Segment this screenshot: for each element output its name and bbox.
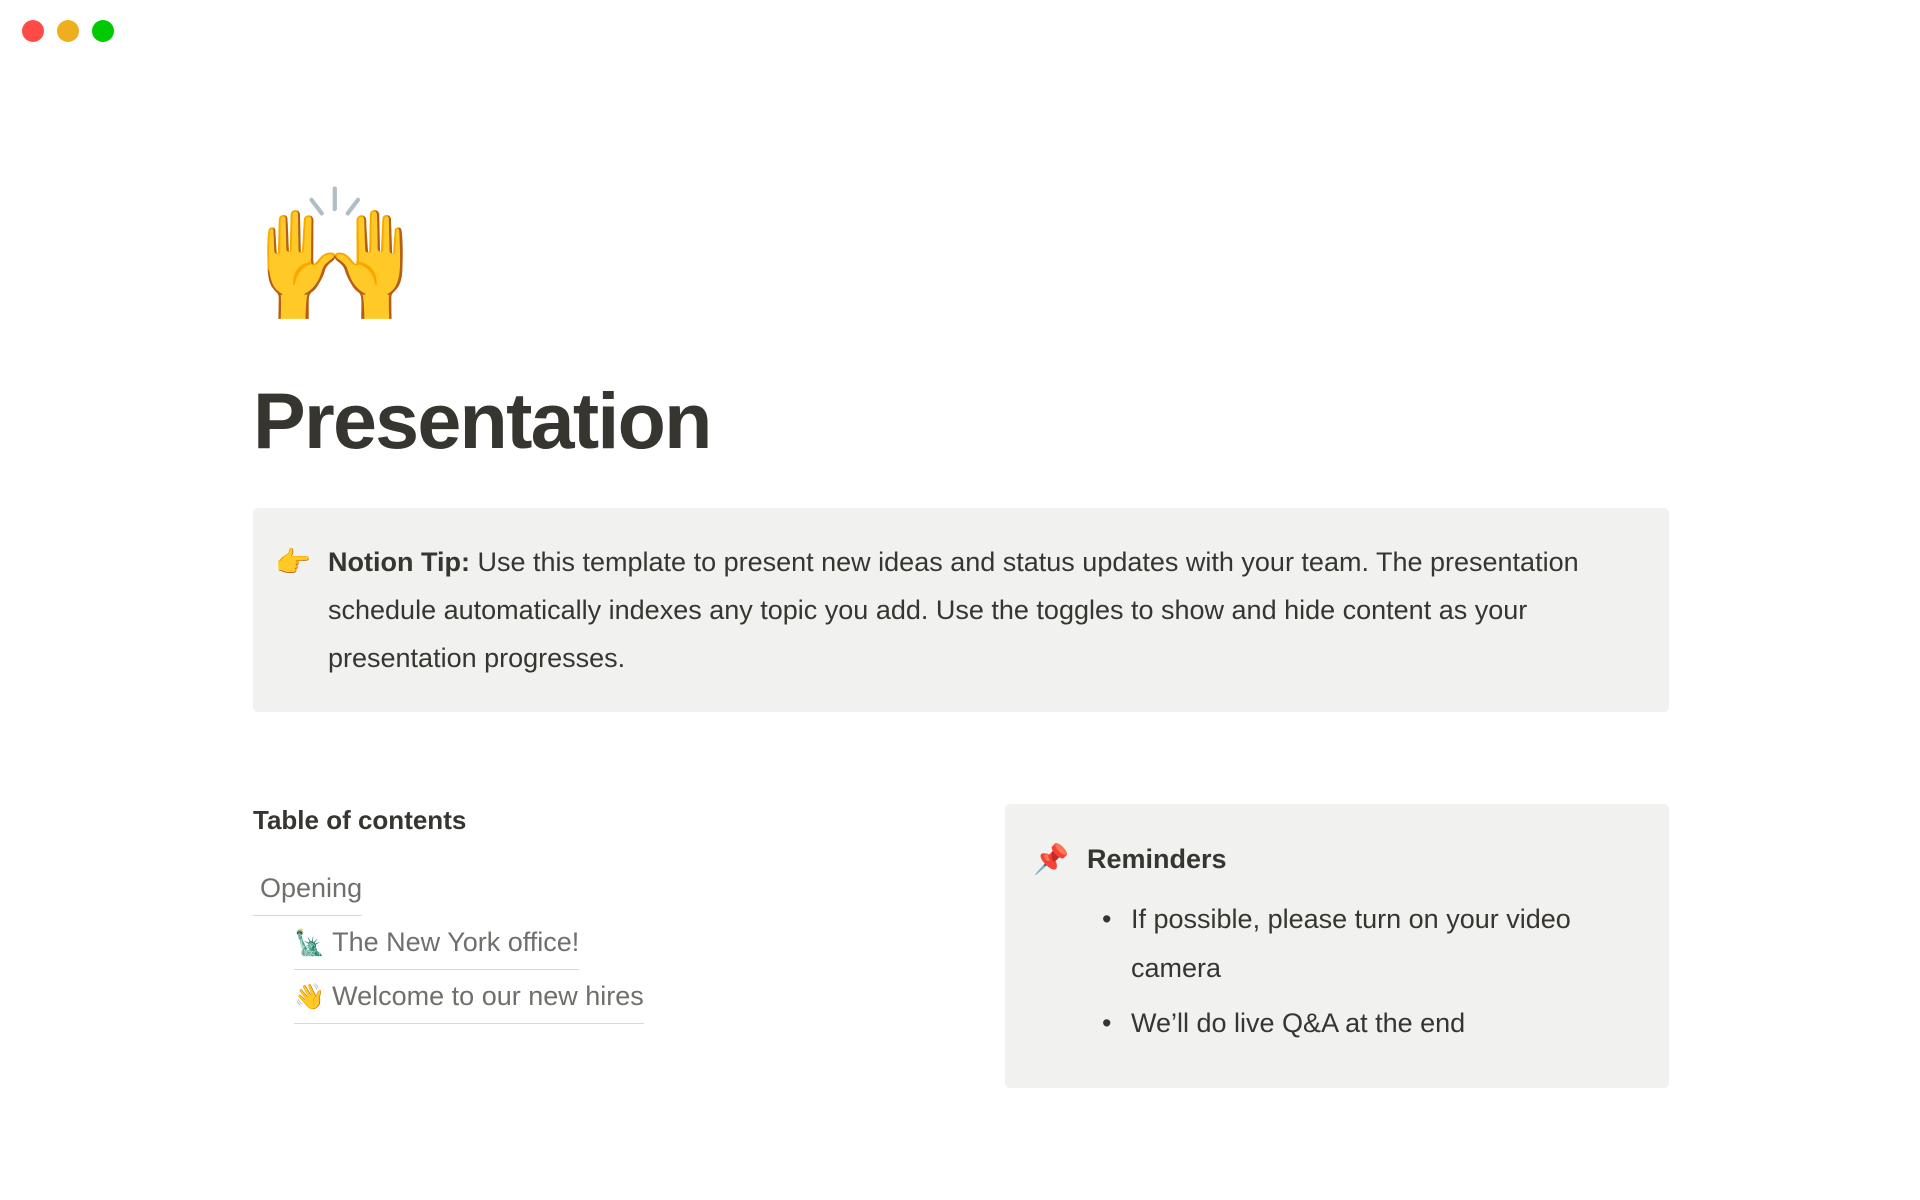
toc-item-label: The New York office!	[332, 927, 579, 957]
toc-link-opening[interactable]: Opening	[253, 862, 362, 916]
document-page: 🙌 Presentation 👉 Notion Tip: Use this te…	[0, 62, 1920, 1200]
notion-tip-body: Use this template to present new ideas a…	[328, 547, 1579, 673]
notion-tip-label: Notion Tip:	[328, 547, 470, 577]
list-item: 🗽The New York office!	[294, 916, 965, 970]
reminders-list: •If possible, please turn on your video …	[1087, 895, 1639, 1048]
minimize-window-button[interactable]	[57, 20, 79, 42]
raising-hands-emoji[interactable]: 🙌	[253, 190, 1669, 352]
reminders-callout: 📌 Reminders •If possible, please turn on…	[1005, 804, 1669, 1088]
bullet-icon: •	[1102, 999, 1111, 1048]
page-title[interactable]: Presentation	[253, 380, 1669, 463]
waving-hand-icon: 👋	[294, 982, 325, 1011]
bullet-icon: •	[1102, 895, 1111, 944]
list-item: Opening	[253, 862, 965, 916]
reminders-body: Reminders •If possible, please turn on y…	[1087, 837, 1639, 1054]
reminders-title: Reminders	[1087, 837, 1639, 881]
list-item: •If possible, please turn on your video …	[1131, 895, 1639, 993]
page-content: 🙌 Presentation 👉 Notion Tip: Use this te…	[253, 62, 1669, 1088]
notion-tip-text: Notion Tip: Use this template to present…	[328, 538, 1629, 682]
list-item: 👋Welcome to our new hires	[294, 970, 965, 1024]
statue-of-liberty-icon: 🗽	[294, 928, 325, 957]
reminders-column: 📌 Reminders •If possible, please turn on…	[1005, 804, 1669, 1088]
window-titlebar	[0, 0, 1920, 62]
toc-item-label: Opening	[260, 873, 362, 903]
table-of-contents-list: Opening 🗽The New York office! 👋Welcome t…	[253, 862, 965, 1024]
table-of-contents-column: Table of contents Opening 🗽The New York …	[253, 804, 1005, 1024]
toc-link-welcome-new-hires[interactable]: 👋Welcome to our new hires	[294, 970, 644, 1024]
reminder-text: We’ll do live Q&A at the end	[1131, 1008, 1465, 1038]
pointing-right-emoji: 👉	[275, 538, 308, 586]
maximize-window-button[interactable]	[92, 20, 114, 42]
close-window-button[interactable]	[22, 20, 44, 42]
list-item: •We’ll do live Q&A at the end	[1131, 999, 1639, 1048]
pushpin-emoji: 📌	[1033, 837, 1065, 881]
reminder-text: If possible, please turn on your video c…	[1131, 904, 1571, 983]
table-of-contents-heading: Table of contents	[253, 804, 965, 838]
toc-item-label: Welcome to our new hires	[332, 981, 644, 1011]
notion-tip-callout: 👉 Notion Tip: Use this template to prese…	[253, 508, 1669, 712]
two-column-section: Table of contents Opening 🗽The New York …	[253, 804, 1669, 1088]
toc-link-new-york-office[interactable]: 🗽The New York office!	[294, 916, 579, 970]
